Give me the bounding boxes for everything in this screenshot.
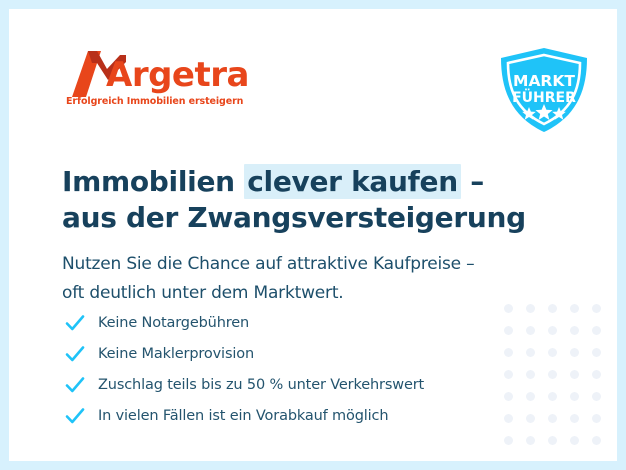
banner-card: Argetra Erfolgreich Immobilien ersteiger… <box>9 9 617 461</box>
check-icon <box>64 312 86 334</box>
badge-line1-text: MARKT <box>513 72 575 90</box>
promo-banner: Argetra Erfolgreich Immobilien ersteiger… <box>0 0 626 470</box>
list-item: In vielen Fällen ist ein Vorabkauf mögli… <box>64 400 534 431</box>
headline-suffix: – <box>461 165 484 198</box>
headline-line-1: Immobilien clever kaufen – <box>62 164 542 200</box>
dot <box>592 436 601 445</box>
page-title: Immobilien clever kaufen – aus der Zwang… <box>62 164 542 236</box>
dot <box>548 326 557 335</box>
brand-logo[interactable]: Argetra Erfolgreich Immobilien ersteiger… <box>64 49 264 97</box>
check-icon <box>64 374 86 396</box>
headline-highlight: clever kaufen <box>244 164 461 199</box>
subheading-line-2: oft deutlich unter dem Marktwert. <box>62 279 562 308</box>
check-icon <box>64 405 86 427</box>
badge-line2-text: FÜHRER <box>512 88 576 106</box>
dot <box>570 304 579 313</box>
dot <box>570 326 579 335</box>
logo-wordmark: Argetra <box>106 58 249 92</box>
logo-tagline: Erfolgreich Immobilien ersteigern <box>66 96 243 107</box>
dot <box>548 414 557 423</box>
dot <box>570 370 579 379</box>
dot <box>570 436 579 445</box>
dot <box>570 414 579 423</box>
dot <box>548 348 557 357</box>
checklist-item-label: Keine Maklerprovision <box>98 346 254 362</box>
subheading: Nutzen Sie die Chance auf attraktive Kau… <box>62 250 562 308</box>
dot <box>570 348 579 357</box>
list-item: Keine Maklerprovision <box>64 338 534 369</box>
list-item: Zuschlag teils bis zu 50 % unter Verkehr… <box>64 369 534 400</box>
dot <box>592 370 601 379</box>
dot <box>592 326 601 335</box>
dot <box>592 304 601 313</box>
markt-fuehrer-shield-badge: MARKT FÜHRER <box>498 47 590 133</box>
dot <box>548 370 557 379</box>
list-item: Keine Notargebühren <box>64 307 534 338</box>
dot <box>548 392 557 401</box>
headline-line-2: aus der Zwangsversteigerung <box>62 200 542 236</box>
dot <box>570 392 579 401</box>
dot <box>592 392 601 401</box>
subheading-line-1: Nutzen Sie die Chance auf attraktive Kau… <box>62 250 562 279</box>
dot <box>548 436 557 445</box>
dot <box>592 414 601 423</box>
benefits-checklist: Keine Notargebühren Keine Maklerprovisio… <box>64 307 534 431</box>
dot <box>592 348 601 357</box>
dot <box>504 436 513 445</box>
checklist-item-label: In vielen Fällen ist ein Vorabkauf mögli… <box>98 408 388 424</box>
dot <box>526 436 535 445</box>
headline-prefix: Immobilien <box>62 165 244 198</box>
checklist-item-label: Zuschlag teils bis zu 50 % unter Verkehr… <box>98 377 424 393</box>
check-icon <box>64 343 86 365</box>
checklist-item-label: Keine Notargebühren <box>98 315 249 331</box>
logo-row: Argetra <box>64 49 264 97</box>
